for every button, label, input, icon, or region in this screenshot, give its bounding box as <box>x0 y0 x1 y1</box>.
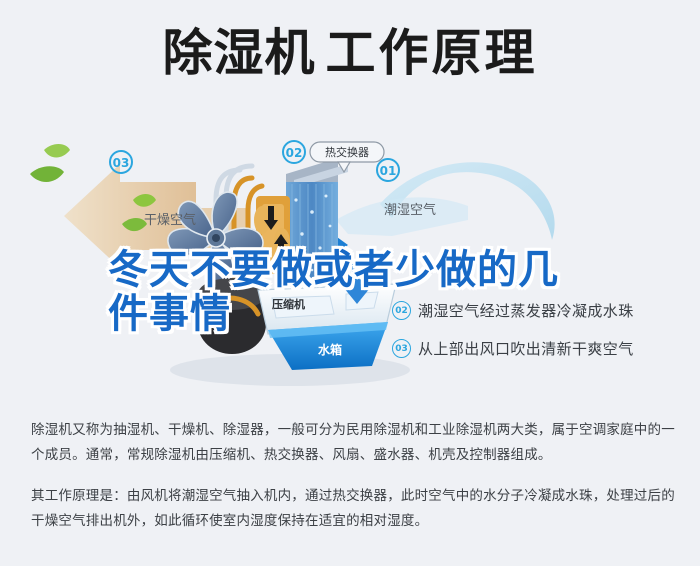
page-title-primary: 除湿机 <box>163 24 316 82</box>
infographic-page: 除湿机工作原理 <box>0 0 700 566</box>
water-tank-label: 水箱 <box>318 342 342 357</box>
body-copy: 除湿机又称为抽湿机、干燥机、除湿器，一般可分为民用除湿机和工业除湿机两大类，属于… <box>31 418 676 534</box>
badge-02-heat-exchanger: 02 <box>283 141 305 163</box>
humid-air-label: 潮湿空气 <box>384 202 436 218</box>
step-item: 03 从上部出风口吹出清新干爽空气 <box>392 338 692 359</box>
step-badge: 02 <box>392 301 411 320</box>
page-title: 除湿机工作原理 <box>0 28 700 78</box>
step-list: 02 潮湿空气经过蒸发器冷凝成水珠 03 从上部出风口吹出清新干爽空气 <box>392 300 692 376</box>
step-item: 02 潮湿空气经过蒸发器冷凝成水珠 <box>392 300 692 321</box>
badge-03-dry-air: 03 <box>110 151 132 173</box>
svg-text:01: 01 <box>380 164 397 178</box>
dry-air-label: 干燥空气 <box>144 212 196 228</box>
badge-01-humid-air: 01 <box>377 159 399 181</box>
paragraph-definition: 除湿机又称为抽湿机、干燥机、除湿器，一般可分为民用除湿机和工业除湿机两大类，属于… <box>31 418 676 468</box>
step-badge: 03 <box>392 339 411 358</box>
svg-text:02: 02 <box>286 146 303 160</box>
overlay-headline-line-1: 冬天不要做或者少做的几 <box>108 248 608 292</box>
page-title-secondary: 工作原理 <box>326 24 538 82</box>
step-label: 潮湿空气经过蒸发器冷凝成水珠 <box>418 300 634 321</box>
step-label: 从上部出风口吹出清新干爽空气 <box>418 338 634 359</box>
svg-text:03: 03 <box>113 156 130 170</box>
paragraph-principle: 其工作原理是：由风机将潮湿空气抽入机内，通过热交换器，此时空气中的水分子冷凝成水… <box>31 484 676 534</box>
heat-exchanger-label: 热交换器 <box>325 145 369 159</box>
